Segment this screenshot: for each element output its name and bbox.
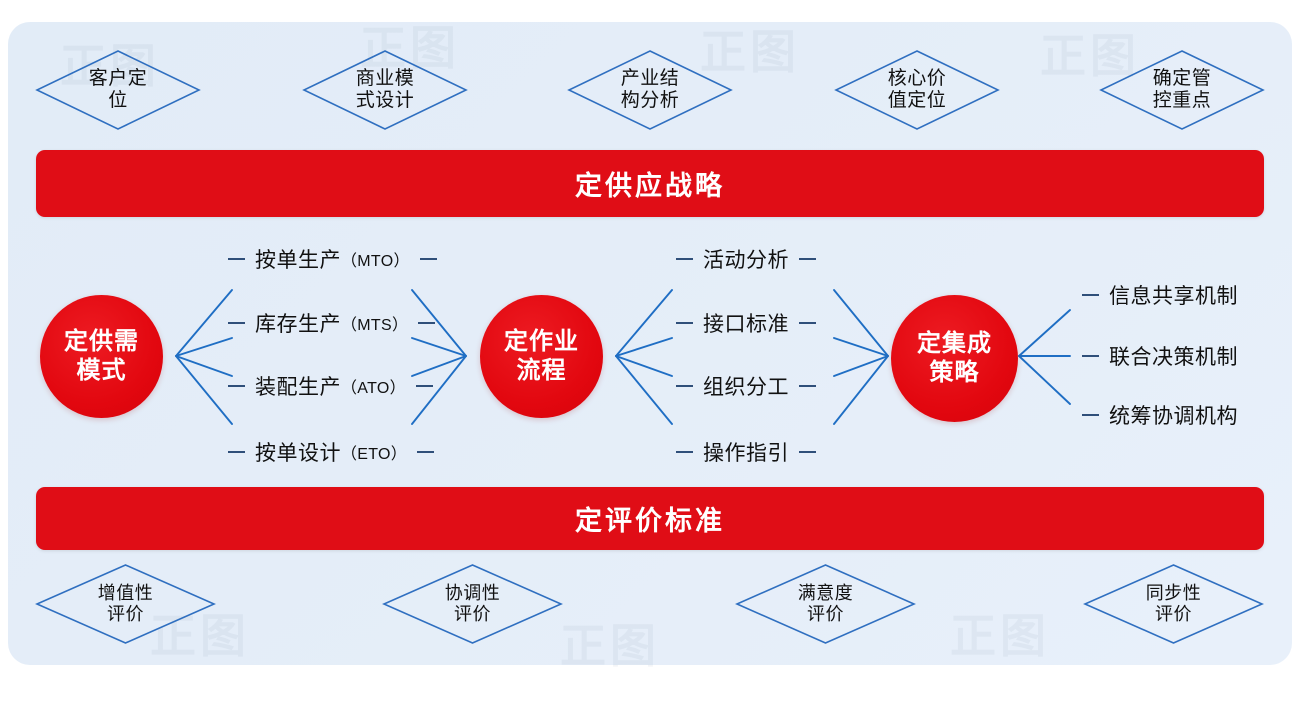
branch-code: （ETO） — [341, 440, 407, 464]
diagram-canvas: 正图 正图 正图 正图 正图 正图 正图 客户定 位 商业模 式设计 产业结 构… — [0, 0, 1300, 702]
dash-icon — [228, 322, 245, 324]
branch-label: 操作指引 — [703, 437, 789, 467]
node-circle-2[interactable]: 定作业 流程 — [480, 295, 603, 418]
branch-g1-2[interactable]: 装配生产 （ATO） — [228, 371, 433, 401]
dash-icon — [799, 258, 816, 260]
dash-icon — [418, 322, 435, 324]
dash-icon — [799, 451, 816, 453]
bottom-diamond-0[interactable]: 增值性 评价 — [36, 564, 215, 644]
branch-label: 库存生产 — [255, 308, 341, 338]
branch-g3-1[interactable]: 联合决策机制 — [1082, 341, 1238, 371]
node-circle-3-label: 定集成 策略 — [917, 330, 992, 388]
branch-label: 统筹协调机构 — [1109, 400, 1238, 430]
dash-icon — [1082, 414, 1099, 416]
branch-g2-1[interactable]: 接口标准 — [676, 308, 816, 338]
branch-label: 接口标准 — [703, 308, 789, 338]
branch-g2-0[interactable]: 活动分析 — [676, 244, 816, 274]
branch-label: 组织分工 — [703, 371, 789, 401]
branch-code: （MTO） — [341, 247, 410, 271]
bottom-diamond-2[interactable]: 满意度 评价 — [736, 564, 915, 644]
bottom-diamond-label: 增值性 评价 — [36, 564, 215, 644]
dash-icon — [228, 451, 245, 453]
branch-g1-1[interactable]: 库存生产 （MTS） — [228, 308, 435, 338]
node-circle-1-label: 定供需 模式 — [64, 328, 139, 386]
branch-g1-0[interactable]: 按单生产 （MTO） — [228, 244, 437, 274]
dash-icon — [799, 322, 816, 324]
dash-icon — [676, 258, 693, 260]
dash-icon — [799, 385, 816, 387]
dash-icon — [228, 385, 245, 387]
branch-code: （MTS） — [341, 311, 408, 335]
dash-icon — [676, 322, 693, 324]
branch-label: 按单生产 — [255, 244, 341, 274]
bottom-diamond-3[interactable]: 同步性 评价 — [1084, 564, 1263, 644]
dash-icon — [1082, 355, 1099, 357]
branch-g1-3[interactable]: 按单设计 （ETO） — [228, 437, 434, 467]
branch-g3-2[interactable]: 统筹协调机构 — [1082, 400, 1238, 430]
dash-icon — [676, 385, 693, 387]
node-circle-3[interactable]: 定集成 策略 — [891, 295, 1018, 422]
branch-label: 装配生产 — [255, 371, 341, 401]
bottom-diamond-label: 同步性 评价 — [1084, 564, 1263, 644]
dash-icon — [676, 451, 693, 453]
branch-g3-0[interactable]: 信息共享机制 — [1082, 280, 1238, 310]
branch-label: 按单设计 — [255, 437, 341, 467]
bottom-diamond-label: 协调性 评价 — [383, 564, 562, 644]
node-circle-2-label: 定作业 流程 — [504, 328, 579, 386]
branch-g2-2[interactable]: 组织分工 — [676, 371, 816, 401]
dash-icon — [228, 258, 245, 260]
branch-g2-3[interactable]: 操作指引 — [676, 437, 816, 467]
dash-icon — [1082, 294, 1099, 296]
branch-code: （ATO） — [341, 374, 406, 398]
bottom-diamond-1[interactable]: 协调性 评价 — [383, 564, 562, 644]
bottom-diamond-label: 满意度 评价 — [736, 564, 915, 644]
dash-icon — [420, 258, 437, 260]
bottom-banner-label: 定评价标准 — [575, 499, 725, 538]
dash-icon — [416, 385, 433, 387]
branch-label: 活动分析 — [703, 244, 789, 274]
bottom-banner[interactable]: 定评价标准 — [36, 487, 1264, 550]
node-circle-1[interactable]: 定供需 模式 — [40, 295, 163, 418]
branch-label: 联合决策机制 — [1109, 341, 1238, 371]
branch-label: 信息共享机制 — [1109, 280, 1238, 310]
dash-icon — [417, 451, 434, 453]
